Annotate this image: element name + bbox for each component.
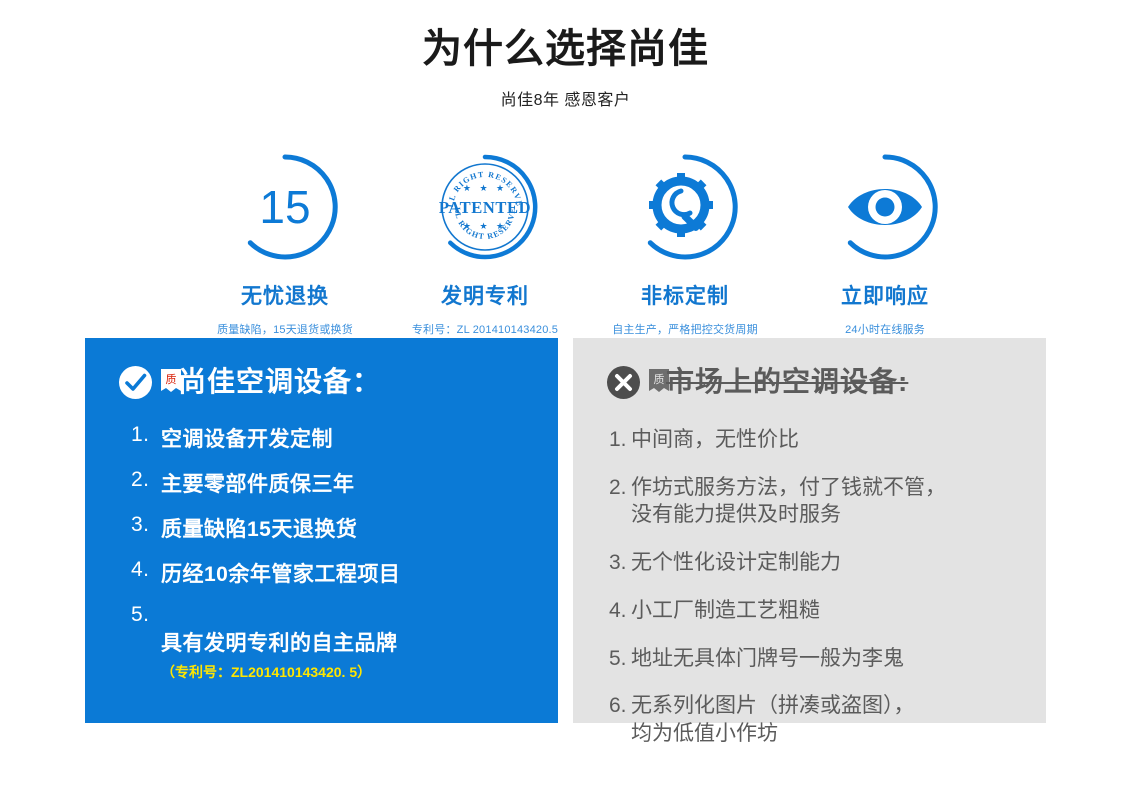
item-number: 5. [131, 603, 161, 627]
feature-title: 非标定制 [590, 280, 780, 310]
feature-item-return: 15 无忧退换 质量缺陷，15天退货或换货 [190, 148, 380, 337]
eye-icon [790, 148, 980, 266]
x-circle-icon [607, 366, 640, 399]
item-text: 小工厂制造工艺粗糙 [631, 597, 1046, 625]
item-number: 2. [609, 474, 631, 502]
svg-text:质: 质 [166, 373, 177, 386]
list-item: 4. 历经10余年管家工程项目 [131, 558, 558, 588]
item-text: 无系列化图片（拼凑或盗图）， 均为低值小作坊 [631, 692, 1046, 747]
svg-text:质: 质 [654, 373, 665, 386]
list-item: 1. 中间商，无性价比 [609, 426, 1046, 454]
panel-advantages-title: 尚佳空调设备： [178, 368, 381, 396]
gear-magnifier-icon [590, 148, 780, 266]
item-number: 3. [131, 513, 161, 537]
list-item: 6. 国家防爆空调检测合格企业 [131, 721, 558, 751]
list-item: 1. 空调设备开发定制 [131, 423, 558, 453]
item-number: 1. [131, 423, 161, 447]
list-item: 5. 地址无具体门牌号一般为李鬼 [609, 645, 1046, 673]
item-text: 质量缺陷15天退换货 [161, 513, 558, 543]
circle-15-icon: 15 [190, 148, 380, 266]
feature-row: 15 无忧退换 质量缺陷，15天退货或换货 ALL RIGHT RESERVED… [190, 148, 980, 337]
list-item: 2. 作坊式服务方法，付了钱就不管， 没有能力提供及时服务 [609, 474, 1046, 529]
feature-desc: 专利号：ZL 201410143420.5 [390, 321, 580, 337]
feature-desc: 自主生产，严格把控交货周期 [590, 321, 780, 337]
comparison-panels: 质 尚佳空调设备： 1. 空调设备开发定制 2. 主要零部件质保三年 3. 质量… [0, 338, 1131, 724]
item-note: （专利号：ZL201410143420. 5） [161, 662, 558, 682]
item-text: 地址无具体门牌号一般为李鬼 [631, 645, 1046, 673]
feature-title: 无忧退换 [190, 280, 380, 310]
panel-competitors-header: 质 市场上的空调设备: [573, 338, 1046, 406]
item-number: 4. [131, 558, 161, 582]
page-title: 为什么选择尚佳 [0, 26, 1131, 72]
page-header: 为什么选择尚佳 尚佳8年 感恩客户 [0, 0, 1131, 110]
item-number: 6. [131, 721, 161, 745]
item-number: 3. [609, 549, 631, 577]
item-text: 作坊式服务方法，付了钱就不管， 没有能力提供及时服务 [631, 474, 1046, 529]
list-item: 6. 无系列化图片（拼凑或盗图）， 均为低值小作坊 [609, 692, 1046, 747]
item-text: 历经10余年管家工程项目 [161, 558, 558, 588]
feature-item-response: 立即响应 24小时在线服务 [790, 148, 980, 337]
list-item: 2. 主要零部件质保三年 [131, 468, 558, 498]
item-text: 无个性化设计定制能力 [631, 549, 1046, 577]
item-number: 5. [609, 645, 631, 673]
item-text: 国家防爆空调检测合格企业 [161, 721, 558, 751]
list-item: 4. 小工厂制造工艺粗糙 [609, 597, 1046, 625]
list-item: 7. 莱茵(第三方)规模级原厂认证 [131, 766, 558, 796]
list-item: 5. 具有发明专利的自主品牌 （专利号：ZL201410143420. 5） [131, 603, 558, 706]
feature-desc: 质量缺陷，15天退货或换货 [190, 321, 380, 337]
item-text: 主要零部件质保三年 [161, 468, 558, 498]
page-subtitle: 尚佳8年 感恩客户 [0, 86, 1131, 110]
item-text: 空调设备开发定制 [161, 423, 558, 453]
patent-seal-icon: ALL RIGHT RESERVED ALL RIGHT RESERVED ★ … [390, 148, 580, 266]
item-text: 中间商，无性价比 [631, 426, 1046, 454]
item-number: 1. [609, 426, 631, 454]
check-circle-icon [119, 366, 152, 399]
list-item: 3. 质量缺陷15天退换货 [131, 513, 558, 543]
feature-title: 发明专利 [390, 280, 580, 310]
competitors-list: 1. 中间商，无性价比 2. 作坊式服务方法，付了钱就不管， 没有能力提供及时服… [573, 406, 1046, 748]
badge-number: 15 [259, 181, 310, 233]
seal-center-text: PATENTED [439, 198, 531, 217]
feature-title: 立即响应 [790, 280, 980, 310]
svg-text:★ ★ ★: ★ ★ ★ [463, 183, 507, 193]
item-number: 6. [609, 692, 631, 720]
feature-desc: 24小时在线服务 [790, 321, 980, 337]
item-number: 7. [131, 766, 161, 790]
feature-item-patent: ALL RIGHT RESERVED ALL RIGHT RESERVED ★ … [390, 148, 580, 337]
svg-text:★ ★ ★: ★ ★ ★ [463, 221, 507, 231]
item-text: 具有发明专利的自主品牌 [161, 632, 398, 655]
advantages-list: 1. 空调设备开发定制 2. 主要零部件质保三年 3. 质量缺陷15天退换货 4… [85, 406, 558, 796]
item-number: 2. [131, 468, 161, 492]
panel-advantages: 质 尚佳空调设备： 1. 空调设备开发定制 2. 主要零部件质保三年 3. 质量… [85, 338, 558, 723]
feature-item-custom: 非标定制 自主生产，严格把控交货周期 [590, 148, 780, 337]
panel-competitors-title: 市场上的空调设备: [666, 368, 908, 396]
panel-competitors: 质 市场上的空调设备: 1. 中间商，无性价比 2. 作坊式服务方法，付了钱就不… [573, 338, 1046, 723]
list-item: 3. 无个性化设计定制能力 [609, 549, 1046, 577]
panel-advantages-header: 质 尚佳空调设备： [85, 338, 558, 406]
item-text: 莱茵(第三方)规模级原厂认证 [161, 766, 558, 796]
item-number: 4. [609, 597, 631, 625]
